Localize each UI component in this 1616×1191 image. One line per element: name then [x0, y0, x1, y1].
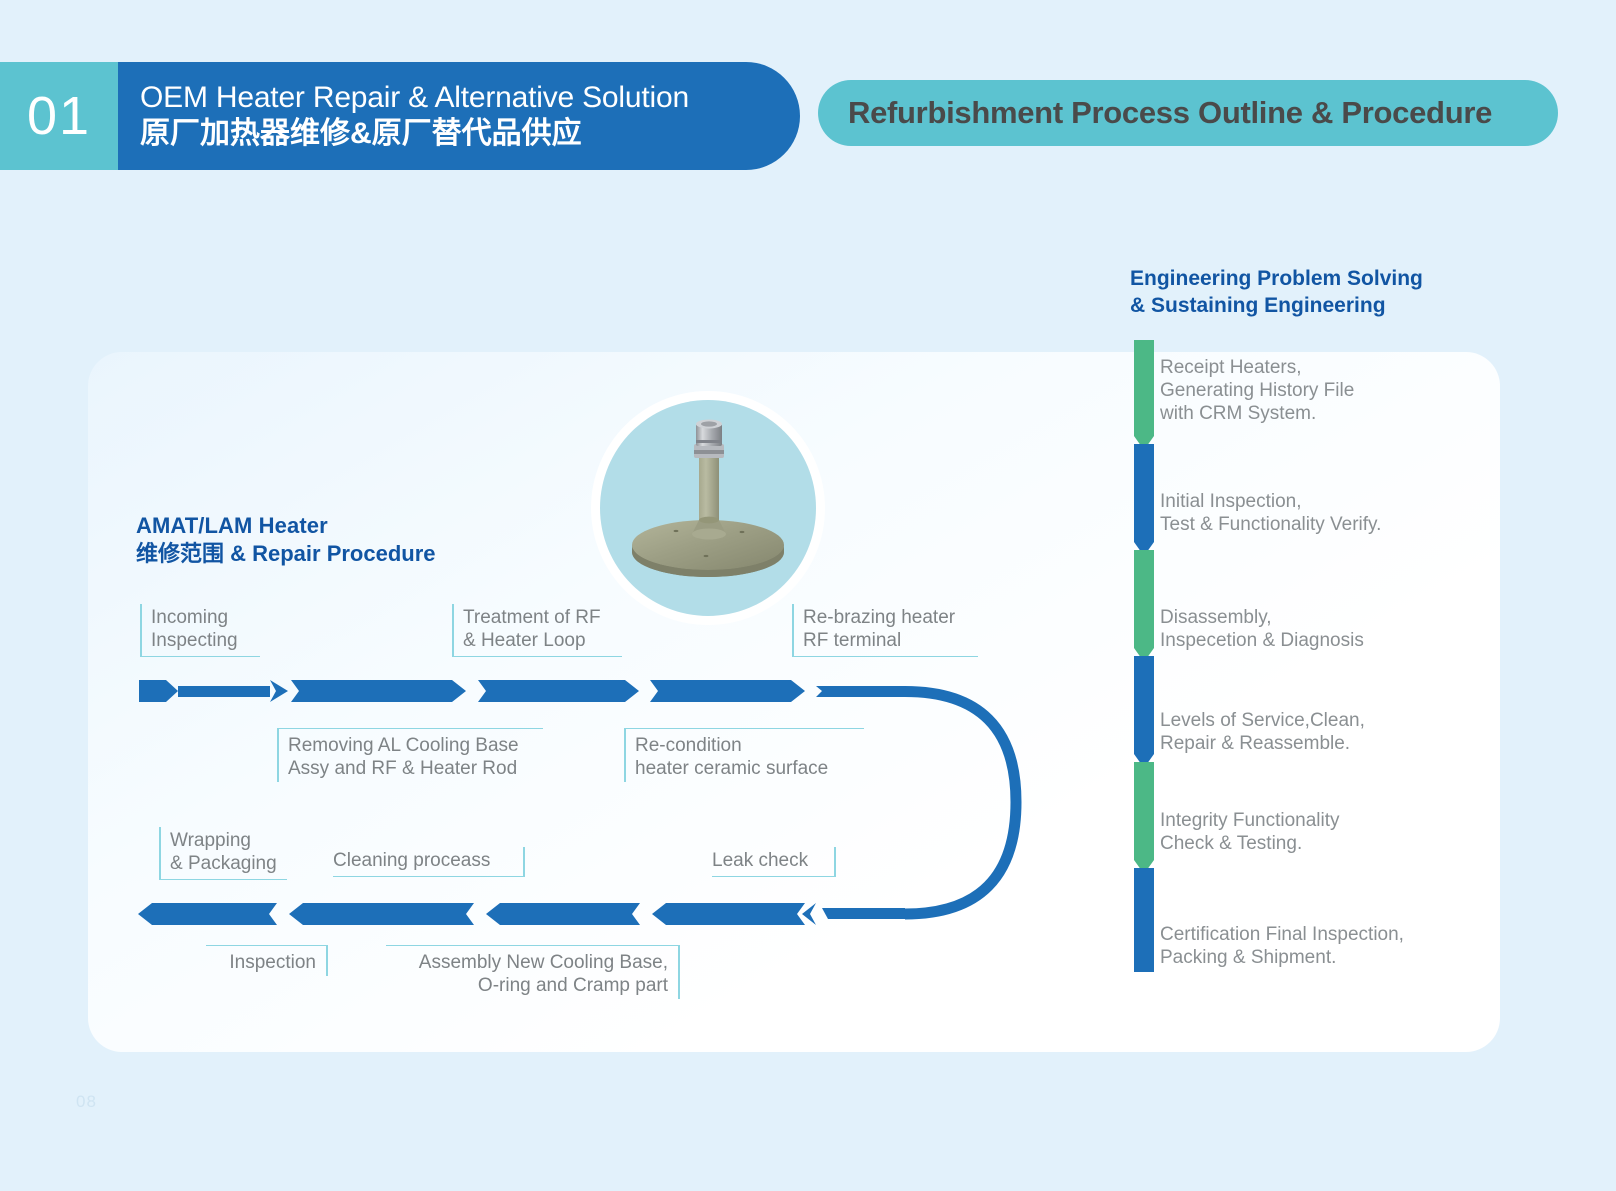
step-bar-4 — [1134, 656, 1154, 768]
engineering-step-line: Test & Functionality Verify. — [1160, 513, 1381, 536]
flow-title-line2: 维修范围 & Repair Procedure — [136, 540, 436, 568]
flow-label-line: & Heater Loop — [463, 629, 622, 652]
engineering-step-line: Packing & Shipment. — [1160, 946, 1404, 969]
flow-label-treatment-rf: Treatment of RF & Heater Loop — [452, 604, 622, 657]
flow-label-cleaning-process: Cleaning proceass — [333, 847, 525, 877]
engineering-step-line: Disassembly, — [1160, 606, 1364, 629]
flow-label-removing-al-cooling-base: Removing AL Cooling Base Assy and RF & H… — [277, 728, 543, 782]
flow-diagram-title: AMAT/LAM Heater 维修范围 & Repair Procedure — [136, 512, 436, 568]
flow-label-line: Incoming — [151, 606, 260, 629]
engineering-step-line: Certification Final Inspection, — [1160, 923, 1404, 946]
engineering-step-line: Repair & Reassemble. — [1160, 732, 1365, 755]
step-bar-1 — [1134, 340, 1154, 450]
flow-label-line: heater ceramic surface — [635, 757, 864, 780]
header-subtitle-text: Refurbishment Process Outline & Procedur… — [848, 95, 1492, 131]
header-band: 01 OEM Heater Repair & Alternative Solut… — [0, 62, 800, 170]
flow-label-line: Wrapping — [170, 829, 287, 852]
flow-label-line: Re-condition — [635, 734, 864, 757]
engineering-step-line: Integrity Functionality — [1160, 809, 1340, 832]
header-title-en: OEM Heater Repair & Alternative Solution — [140, 81, 800, 115]
engineering-title-line1: Engineering Problem Solving — [1130, 266, 1423, 293]
flow-label-line: Inspecting — [151, 629, 260, 652]
engineering-step-line: Inspecetion & Diagnosis — [1160, 629, 1364, 652]
engineering-column-title: Engineering Problem Solving & Sustaining… — [1130, 266, 1423, 320]
engineering-step-line: Receipt Heaters, — [1160, 356, 1354, 379]
engineering-step-6: Certification Final Inspection, Packing … — [1160, 923, 1404, 969]
header-subtitle-pill: Refurbishment Process Outline & Procedur… — [818, 80, 1558, 146]
step-bar-6 — [1134, 868, 1154, 972]
flow-label-rebrazing: Re-brazing heater RF terminal — [792, 604, 978, 657]
engineering-step-line: Generating History File — [1160, 379, 1354, 402]
engineering-step-chevron-bar — [1128, 340, 1164, 980]
engineering-step-line: with CRM System. — [1160, 402, 1354, 425]
flow-label-line: Assy and RF & Heater Rod — [288, 757, 543, 780]
header-title-cn: 原厂加热器维修&原厂替代品供应 — [140, 116, 800, 151]
engineering-step-1: Receipt Heaters, Generating History File… — [1160, 356, 1354, 426]
engineering-step-3: Disassembly, Inspecetion & Diagnosis — [1160, 606, 1364, 652]
engineering-step-line: Check & Testing. — [1160, 832, 1340, 855]
flow-label-inspection: Inspection — [206, 945, 328, 976]
flow-label-line: O-ring and Cramp part — [386, 974, 668, 997]
pedestal-heater-illustration — [600, 400, 816, 616]
engineering-step-2: Initial Inspection, Test & Functionality… — [1160, 490, 1381, 536]
flow-title-line1: AMAT/LAM Heater — [136, 512, 436, 540]
section-number-box: 01 — [0, 62, 118, 170]
step-bar-2 — [1134, 444, 1154, 556]
engineering-title-line2: & Sustaining Engineering — [1130, 293, 1423, 320]
header-title-box: OEM Heater Repair & Alternative Solution… — [118, 62, 800, 170]
flow-label-line: Treatment of RF — [463, 606, 622, 629]
section-number: 01 — [27, 85, 91, 147]
step-bar-5 — [1134, 762, 1154, 874]
flow-label-line: Cleaning proceass — [333, 849, 513, 872]
engineering-step-5: Integrity Functionality Check & Testing. — [1160, 809, 1340, 855]
flow-label-line: Inspection — [206, 951, 316, 974]
flow-label-line: Re-brazing heater — [803, 606, 978, 629]
flow-label-line: Removing AL Cooling Base — [288, 734, 543, 757]
flow-label-incoming-inspecting: Incoming Inspecting — [140, 604, 260, 657]
flow-label-recondition-surface: Re-condition heater ceramic surface — [624, 728, 864, 782]
engineering-step-line: Initial Inspection, — [1160, 490, 1381, 513]
flow-label-leak-check: Leak check — [712, 847, 836, 877]
flow-label-line: RF terminal — [803, 629, 978, 652]
engineering-step-line: Levels of Service,Clean, — [1160, 709, 1365, 732]
flow-label-line: Leak check — [712, 849, 824, 872]
step-bar-3 — [1134, 550, 1154, 662]
flow-label-assembly-new-cooling-base: Assembly New Cooling Base, O-ring and Cr… — [386, 945, 680, 999]
flow-label-wrapping-packaging: Wrapping & Packaging — [159, 827, 287, 880]
flow-label-line: & Packaging — [170, 852, 287, 875]
flow-label-line: Assembly New Cooling Base, — [386, 951, 668, 974]
engineering-step-4: Levels of Service,Clean, Repair & Reasse… — [1160, 709, 1365, 755]
heater-photo — [600, 400, 816, 616]
page-number: 08 — [76, 1092, 97, 1112]
